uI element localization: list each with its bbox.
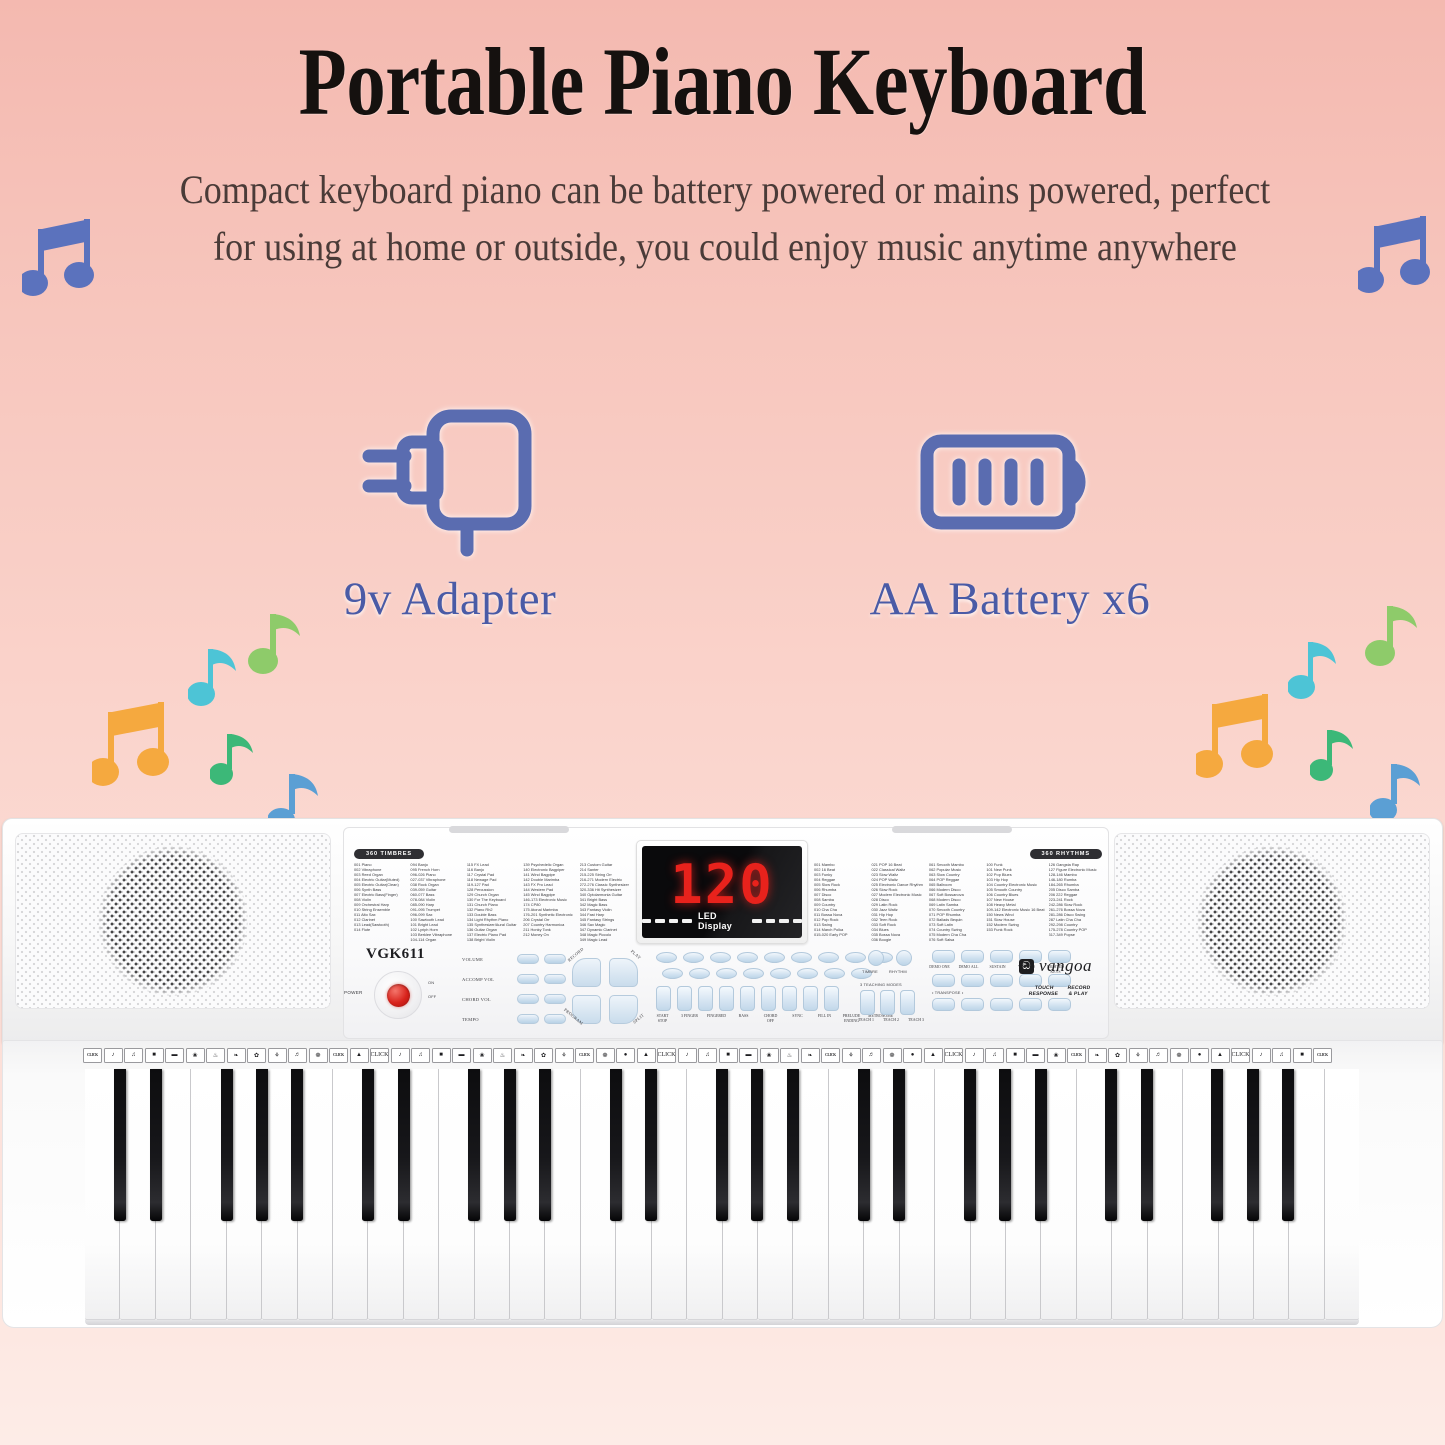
keybed-foot — [85, 1320, 1359, 1325]
music-note-orange-beamed-left — [92, 700, 172, 792]
function-select-button[interactable] — [710, 952, 731, 963]
brand-name: vangoa — [1039, 956, 1092, 976]
percussion-key-icon: ♬ — [288, 1048, 307, 1063]
led-dash — [642, 919, 651, 923]
percussion-key-icon: ▬ — [739, 1048, 758, 1063]
teaching-modes-title: 3 TEACHING MODES — [860, 982, 902, 987]
white-key[interactable] — [156, 1069, 191, 1321]
function-button-bass[interactable] — [719, 986, 734, 1011]
brand-feature-badges: TOUCHRESPONSE RECORD& PLAY — [1029, 986, 1090, 997]
function-button-label: FILL IN — [814, 1014, 835, 1023]
led-dash — [752, 919, 761, 923]
percussion-key-icon: ▬ — [452, 1048, 471, 1063]
teach-2-button[interactable] — [880, 990, 895, 1015]
percussion-key-icon: ❀ — [760, 1048, 779, 1063]
power-button[interactable] — [374, 971, 422, 1019]
percussion-key-icon: ✿ — [247, 1048, 266, 1063]
white-key[interactable] — [1112, 1069, 1147, 1321]
white-key[interactable] — [652, 1069, 687, 1321]
percussion-click-label: CLICK — [1317, 1053, 1328, 1057]
play-button[interactable] — [609, 958, 638, 987]
function-select-button[interactable] — [683, 952, 704, 963]
tempo-minus-button[interactable] — [517, 1014, 539, 1024]
percussion-key-icon: ♪ — [965, 1048, 984, 1063]
function-label-row: STARTSTOP3 FINGERFINGEREDBASSCHORDOFFSYN… — [652, 1014, 889, 1023]
percussion-key-icon: ✿ — [534, 1048, 553, 1063]
white-key[interactable] — [1289, 1069, 1324, 1321]
white-key[interactable] — [864, 1069, 899, 1321]
timbre-label: TIMBRE — [862, 969, 878, 974]
subtitle-line-2: for using at home or outside, you could … — [118, 219, 1333, 276]
percussion-key-icon: ♪ — [104, 1048, 123, 1063]
transpose-label: • TRANSPOSE • — [932, 990, 963, 995]
white-key[interactable] — [1077, 1069, 1112, 1321]
transpose-button[interactable] — [990, 974, 1013, 987]
feature-label-battery: AA Battery x6 — [790, 572, 1230, 626]
control-row-accomp-vol: ACCOMP VOL — [462, 974, 566, 984]
voice-entry: 104-114 Organ — [410, 937, 462, 942]
white-key[interactable] — [1006, 1069, 1041, 1321]
percussion-key-icon: ▲ — [350, 1048, 369, 1063]
slider-label-tempo: TEMPO — [462, 1017, 512, 1022]
function-button-label: FINGERED — [706, 1014, 727, 1023]
function-select-button[interactable] — [791, 952, 812, 963]
percussion-key-icon: ♨ — [493, 1048, 512, 1063]
percussion-key-icon: ▬ — [1026, 1048, 1045, 1063]
white-key[interactable] — [404, 1069, 439, 1321]
voice-column: 139 Psychedelic Organ140 Electronic Bagp… — [523, 862, 575, 942]
rhythm-knob-label: RHYTHM — [889, 969, 907, 974]
led-dash — [655, 919, 664, 923]
button-sustain[interactable] — [990, 950, 1013, 963]
percussion-click-label: CLICK — [87, 1053, 98, 1057]
percussion-key-icon: ♪ — [1252, 1048, 1271, 1063]
piano-keys — [85, 1069, 1359, 1321]
keyboard-top-panel: 360 TIMBRES 001 Piano002 Vibraphone003 R… — [2, 818, 1443, 1044]
function-oval-row-1 — [656, 952, 893, 963]
slider-label-volume: VOLUME — [462, 957, 512, 962]
percussion-key-icon: CLICK — [657, 1048, 676, 1063]
percussion-key-icon: ♫ — [985, 1048, 1004, 1063]
white-key[interactable] — [758, 1069, 793, 1321]
white-key[interactable] — [581, 1069, 616, 1321]
white-key[interactable] — [475, 1069, 510, 1321]
white-key[interactable] — [1219, 1069, 1254, 1321]
volume-plus-button[interactable] — [544, 954, 566, 964]
power-label: POWER — [344, 990, 363, 995]
led-display-bezel: 120 LED Display — [636, 840, 808, 944]
percussion-key-icon: ⚘ — [1129, 1048, 1148, 1063]
rhythm-knob[interactable] — [896, 950, 912, 966]
record-button[interactable] — [572, 958, 601, 987]
chord-vol-minus-button[interactable] — [517, 994, 539, 1004]
tempo-plus-button[interactable] — [544, 1014, 566, 1024]
power-button-led — [387, 984, 410, 1007]
music-note-teal-single-left — [210, 730, 254, 790]
rhythm-entry: 036 Boogie — [871, 937, 924, 942]
teach-1-label: TEACH 1 — [856, 1018, 876, 1023]
percussion-key-icon: ■ — [1006, 1048, 1025, 1063]
percussion-key-icon: CLICK — [1231, 1048, 1250, 1063]
percussion-key-icon: ❀ — [473, 1048, 492, 1063]
percussion-key-icon: ♫ — [124, 1048, 143, 1063]
percussion-key-icon: CLICK — [944, 1048, 963, 1063]
function-oval-row-2 — [662, 968, 872, 979]
function-select-button[interactable] — [818, 952, 839, 963]
function-button-label: STARTSTOP — [652, 1014, 673, 1023]
percussion-key-icon: ♪ — [678, 1048, 697, 1063]
brand-logo: ඞ vangoa — [1019, 956, 1092, 976]
percussion-key-icon: CLICK — [575, 1048, 594, 1063]
function-select-button[interactable] — [662, 968, 683, 979]
white-key[interactable] — [262, 1069, 297, 1321]
percussion-key-icon: CLICK — [1067, 1048, 1086, 1063]
instrument-button[interactable] — [990, 998, 1013, 1011]
percussion-key-icon: ■ — [1293, 1048, 1312, 1063]
white-key[interactable] — [616, 1069, 651, 1321]
percussion-key-icon: ▲ — [1211, 1048, 1230, 1063]
white-key[interactable] — [368, 1069, 403, 1321]
percussion-key-icon: ▬ — [165, 1048, 184, 1063]
subtitle-line-1: Compact keyboard piano can be battery po… — [118, 162, 1333, 219]
button-label: DEMO ALL — [957, 965, 980, 974]
percussion-key-icon: ■ — [145, 1048, 164, 1063]
rhythm-entry: 153 Funk Rock — [986, 927, 1044, 932]
chord-vol-plus-button[interactable] — [544, 994, 566, 1004]
voice-entry: 349 Magic Lead — [580, 937, 632, 942]
button-label: DEMO ONE — [928, 965, 951, 974]
function-select-button[interactable] — [764, 952, 785, 963]
white-keys — [85, 1069, 1359, 1321]
white-key[interactable] — [829, 1069, 864, 1321]
slider-label-chord-vol: CHORD VOL — [462, 997, 512, 1002]
function-button-label: CHORDOFF — [760, 1014, 781, 1023]
rhythm-list-badge: 360 RHYTHMS — [1030, 849, 1102, 859]
piano-keyboard: 360 TIMBRES 001 Piano002 Vibraphone003 R… — [0, 818, 1445, 1328]
white-key[interactable] — [120, 1069, 155, 1321]
led-display-screen: 120 LED Display — [642, 846, 802, 938]
function-button-label: BASS — [733, 1014, 754, 1023]
voice-entry: 138 Bright Violin — [467, 937, 519, 942]
function-button-3-finger[interactable] — [677, 986, 692, 1011]
percussion-click-label: CLICK — [333, 1053, 344, 1057]
music-note-orange-beamed-right — [1196, 692, 1276, 784]
function-button-label: SYNC — [787, 1014, 808, 1023]
speaker-cone-left — [98, 846, 248, 996]
percussion-key-icon: ❧ — [514, 1048, 533, 1063]
power-adapter-icon — [230, 392, 670, 572]
teach-2-label: TEACH 2 — [881, 1018, 901, 1023]
white-key[interactable] — [298, 1069, 333, 1321]
product-banner: Portable Piano Keyboard Compact keyboard… — [0, 0, 1445, 1445]
knob-row — [868, 950, 912, 966]
led-dash — [779, 919, 788, 923]
function-select-button[interactable] — [737, 952, 758, 963]
percussion-key-icon: ♨ — [780, 1048, 799, 1063]
button-demo-one[interactable] — [932, 950, 955, 963]
instrument-button[interactable] — [1019, 998, 1042, 1011]
music-note-teal-single-right — [1310, 726, 1354, 786]
percussion-key-icon: ❁ — [309, 1048, 328, 1063]
music-note-cyan-single-left — [188, 645, 238, 713]
touch-response-badge: TOUCHRESPONSE — [1028, 986, 1059, 997]
music-note-cyan-single-right — [1288, 638, 1338, 706]
voice-entry: 212 Money On — [523, 932, 575, 937]
music-note-blue-beamed-right — [1358, 212, 1434, 298]
function-select-button[interactable] — [743, 968, 764, 979]
function-button-sync[interactable] — [761, 986, 776, 1011]
percussion-key-icon: ❧ — [801, 1048, 820, 1063]
teach-3-button[interactable] — [900, 990, 915, 1015]
rhythm-list-badge-wrap: 360 RHYTHMS — [814, 842, 1102, 860]
percussion-key-icon: CLICK — [329, 1048, 348, 1063]
function-select-button[interactable] — [689, 968, 710, 979]
white-key[interactable] — [900, 1069, 935, 1321]
led-dash — [766, 919, 775, 923]
led-dash — [669, 919, 678, 923]
percussion-key-icon: CLICK — [83, 1048, 102, 1063]
white-key[interactable] — [687, 1069, 722, 1321]
percussion-key-icon: ⚘ — [842, 1048, 861, 1063]
percussion-key-icon: ● — [903, 1048, 922, 1063]
white-key[interactable] — [510, 1069, 545, 1321]
voice-column: 213 Custom Guitar214 Santer215-225 Strin… — [580, 862, 632, 942]
transpose-button[interactable] — [961, 974, 984, 987]
white-key[interactable] — [1183, 1069, 1218, 1321]
power-on-label: ON — [428, 980, 434, 985]
function-select-button[interactable] — [716, 968, 737, 979]
percussion-key-icon: ⚘ — [268, 1048, 287, 1063]
percussion-key-icon: ❀ — [1047, 1048, 1066, 1063]
percussion-key-icon: ♬ — [1149, 1048, 1168, 1063]
accomp-vol-minus-button[interactable] — [517, 974, 539, 984]
page-title: Portable Piano Keyboard — [130, 34, 1315, 130]
white-key[interactable] — [1254, 1069, 1289, 1321]
page-subtitle: Compact keyboard piano can be battery po… — [118, 162, 1333, 276]
percussion-key-icon: CLICK — [370, 1048, 389, 1063]
percussion-key-icon: ● — [1190, 1048, 1209, 1063]
music-note-green-single-left — [248, 608, 302, 682]
white-key[interactable] — [793, 1069, 828, 1321]
led-display-footer: LED Display — [642, 911, 802, 931]
music-note-green-single-right — [1365, 600, 1419, 674]
function-select-button[interactable] — [824, 968, 845, 979]
panel-handle-left — [449, 826, 569, 833]
percussion-key-icon: ❀ — [186, 1048, 205, 1063]
rhythm-column: 126 Gangsta Rap127 Figure Electronic Mus… — [1049, 862, 1102, 942]
percussion-key-icon: ♨ — [206, 1048, 225, 1063]
rhythm-column: 021 POP 16 Beat022 Classical Waltz023 Sl… — [871, 862, 924, 942]
function-select-button[interactable] — [797, 968, 818, 979]
brand-mark-icon: ඞ — [1019, 959, 1034, 974]
percussion-key-icon: CLICK — [1313, 1048, 1332, 1063]
voice-list-badge: 360 TIMBRES — [354, 849, 424, 859]
led-dash — [682, 919, 691, 923]
function-button-prelude-ending[interactable] — [803, 986, 818, 1011]
button-demo-all[interactable] — [961, 950, 984, 963]
instrument-button[interactable] — [1048, 998, 1071, 1011]
speaker-grille-left — [15, 833, 331, 1009]
power-off-label: OFF — [428, 994, 436, 999]
volume-minus-button[interactable] — [517, 954, 539, 964]
led-display-value: 120 — [642, 858, 802, 912]
percussion-key-icon: ❁ — [1170, 1048, 1189, 1063]
led-display-caption: LED Display — [696, 911, 748, 931]
percussion-key-icon: ■ — [432, 1048, 451, 1063]
transpose-button[interactable] — [932, 974, 955, 987]
teaching-button-row — [860, 990, 915, 1015]
white-key[interactable] — [723, 1069, 758, 1321]
voice-column: 094 Banjo095 French Horn096-026 Piano027… — [410, 862, 462, 942]
control-row-tempo: TEMPO — [462, 1014, 566, 1024]
percussion-key-icon: ✿ — [1108, 1048, 1127, 1063]
instrument-button[interactable] — [932, 998, 955, 1011]
voice-column: 001 Piano002 Vibraphone003 Reed Organ004… — [354, 862, 406, 942]
white-key[interactable] — [1148, 1069, 1183, 1321]
percussion-key-icon: ❧ — [1088, 1048, 1107, 1063]
function-button-fingered[interactable] — [698, 986, 713, 1011]
voice-column: 115 FX Lead116 Banjo117 Crystal Pad118 N… — [467, 862, 519, 942]
model-name: VGK611 — [366, 946, 425, 963]
instrument-button[interactable] — [961, 998, 984, 1011]
rhythm-column: 061 Smooth Mambo062 Popular Music063 Slo… — [929, 862, 982, 942]
function-button-chord-off[interactable] — [740, 986, 755, 1011]
slider-label-accomp-vol: ACCOMP VOL — [462, 977, 512, 982]
percussion-key-icon: ■ — [719, 1048, 738, 1063]
percussion-key-icon: ♫ — [411, 1048, 430, 1063]
rhythm-entry: 317-349 Popse — [1049, 932, 1102, 937]
percussion-key-icon: ❁ — [596, 1048, 615, 1063]
feature-battery: AA Battery x6 — [790, 392, 1230, 626]
control-row-chord-vol: CHORD VOL — [462, 994, 566, 1004]
function-button-start-stop[interactable] — [656, 986, 671, 1011]
instrument-button-row — [932, 998, 1071, 1011]
control-panel: 360 TIMBRES 001 Piano002 Vibraphone003 R… — [343, 827, 1109, 1039]
percussion-key-icon: ♫ — [698, 1048, 717, 1063]
function-button-metronome[interactable] — [824, 986, 839, 1011]
percussion-click-label: CLICK — [825, 1053, 836, 1057]
percussion-click-label: CLICK — [579, 1053, 590, 1057]
led-dash — [793, 919, 802, 923]
rhythm-column: 100 Funk101 New Punk102 Pop Blues103 Hip… — [986, 862, 1044, 942]
record-play-badge: RECORD& PLAY — [1066, 986, 1090, 997]
percussion-key-icon: ♬ — [862, 1048, 881, 1063]
white-key[interactable] — [439, 1069, 474, 1321]
percussion-key-icon: CLICK — [821, 1048, 840, 1063]
music-note-blue-beamed-left — [22, 215, 98, 301]
teach-1-button[interactable] — [860, 990, 875, 1015]
function-button-row — [656, 986, 839, 1011]
percussion-icon-strip: CLICK♪♫■▬❀♨❧✿⚘♬❁CLICK▲CLICK♪♫■▬❀♨❧✿⚘CLIC… — [83, 1046, 1368, 1064]
white-key[interactable] — [971, 1069, 1006, 1321]
battery-icon — [790, 392, 1230, 572]
speaker-cone-right — [1197, 846, 1347, 996]
voice-list-columns: 001 Piano002 Vibraphone003 Reed Organ004… — [354, 862, 632, 942]
percussion-key-icon: ⚘ — [555, 1048, 574, 1063]
white-key[interactable] — [227, 1069, 262, 1321]
function-button-label: 3 FINGER — [679, 1014, 700, 1023]
white-key[interactable] — [333, 1069, 368, 1321]
white-key[interactable] — [1325, 1069, 1359, 1321]
function-select-button[interactable] — [845, 952, 866, 963]
rhythm-list: 360 RHYTHMS 001 Mambo002 16 Beat003 Funk… — [814, 842, 1102, 942]
rhythm-column: 001 Mambo002 16 Beat003 Funky004 Reggae0… — [814, 862, 867, 942]
keybed: CLICK♪♫■▬❀♨❧✿⚘♬❁CLICK▲CLICK♪♫■▬❀♨❧✿⚘CLIC… — [2, 1040, 1443, 1328]
white-key[interactable] — [1041, 1069, 1076, 1321]
timbre-knob[interactable] — [868, 950, 884, 966]
percussion-key-icon: ❧ — [227, 1048, 246, 1063]
function-select-button[interactable] — [656, 952, 677, 963]
speaker-grille-right — [1114, 833, 1430, 1009]
percussion-key-icon: ♫ — [1272, 1048, 1291, 1063]
rhythm-list-columns: 001 Mambo002 16 Beat003 Funky004 Reggae0… — [814, 862, 1102, 942]
percussion-key-icon: ❁ — [883, 1048, 902, 1063]
white-key[interactable] — [191, 1069, 226, 1321]
percussion-key-icon: ♪ — [391, 1048, 410, 1063]
voice-list-badge-wrap: 360 TIMBRES — [354, 842, 632, 860]
percussion-key-icon: ▲ — [924, 1048, 943, 1063]
function-button-fill-in[interactable] — [782, 986, 797, 1011]
control-row-volume: VOLUME — [462, 954, 566, 964]
percussion-click-label: CLICK — [1071, 1053, 1082, 1057]
teaching-label-row: TEACH 1 TEACH 2 TEACH 3 — [856, 1018, 926, 1023]
voice-entry: 014 Flute — [354, 927, 406, 932]
white-key[interactable] — [935, 1069, 970, 1321]
rhythm-entry: 015-020 Early POP — [814, 932, 867, 937]
feature-power-adapter: 9v Adapter — [230, 392, 670, 626]
white-key[interactable] — [545, 1069, 580, 1321]
function-select-button[interactable] — [770, 968, 791, 979]
rhythm-entry: 076 Soft Salsa — [929, 937, 982, 942]
voice-list: 360 TIMBRES 001 Piano002 Vibraphone003 R… — [354, 842, 632, 942]
transport-dpad — [572, 958, 638, 1024]
percussion-key-icon: ● — [616, 1048, 635, 1063]
teach-3-label: TEACH 3 — [906, 1018, 926, 1023]
button-label: SUSTAIN — [986, 965, 1009, 974]
white-key[interactable] — [85, 1069, 120, 1321]
panel-handle-right — [892, 826, 1012, 833]
accomp-vol-plus-button[interactable] — [544, 974, 566, 984]
percussion-key-icon: ▲ — [637, 1048, 656, 1063]
